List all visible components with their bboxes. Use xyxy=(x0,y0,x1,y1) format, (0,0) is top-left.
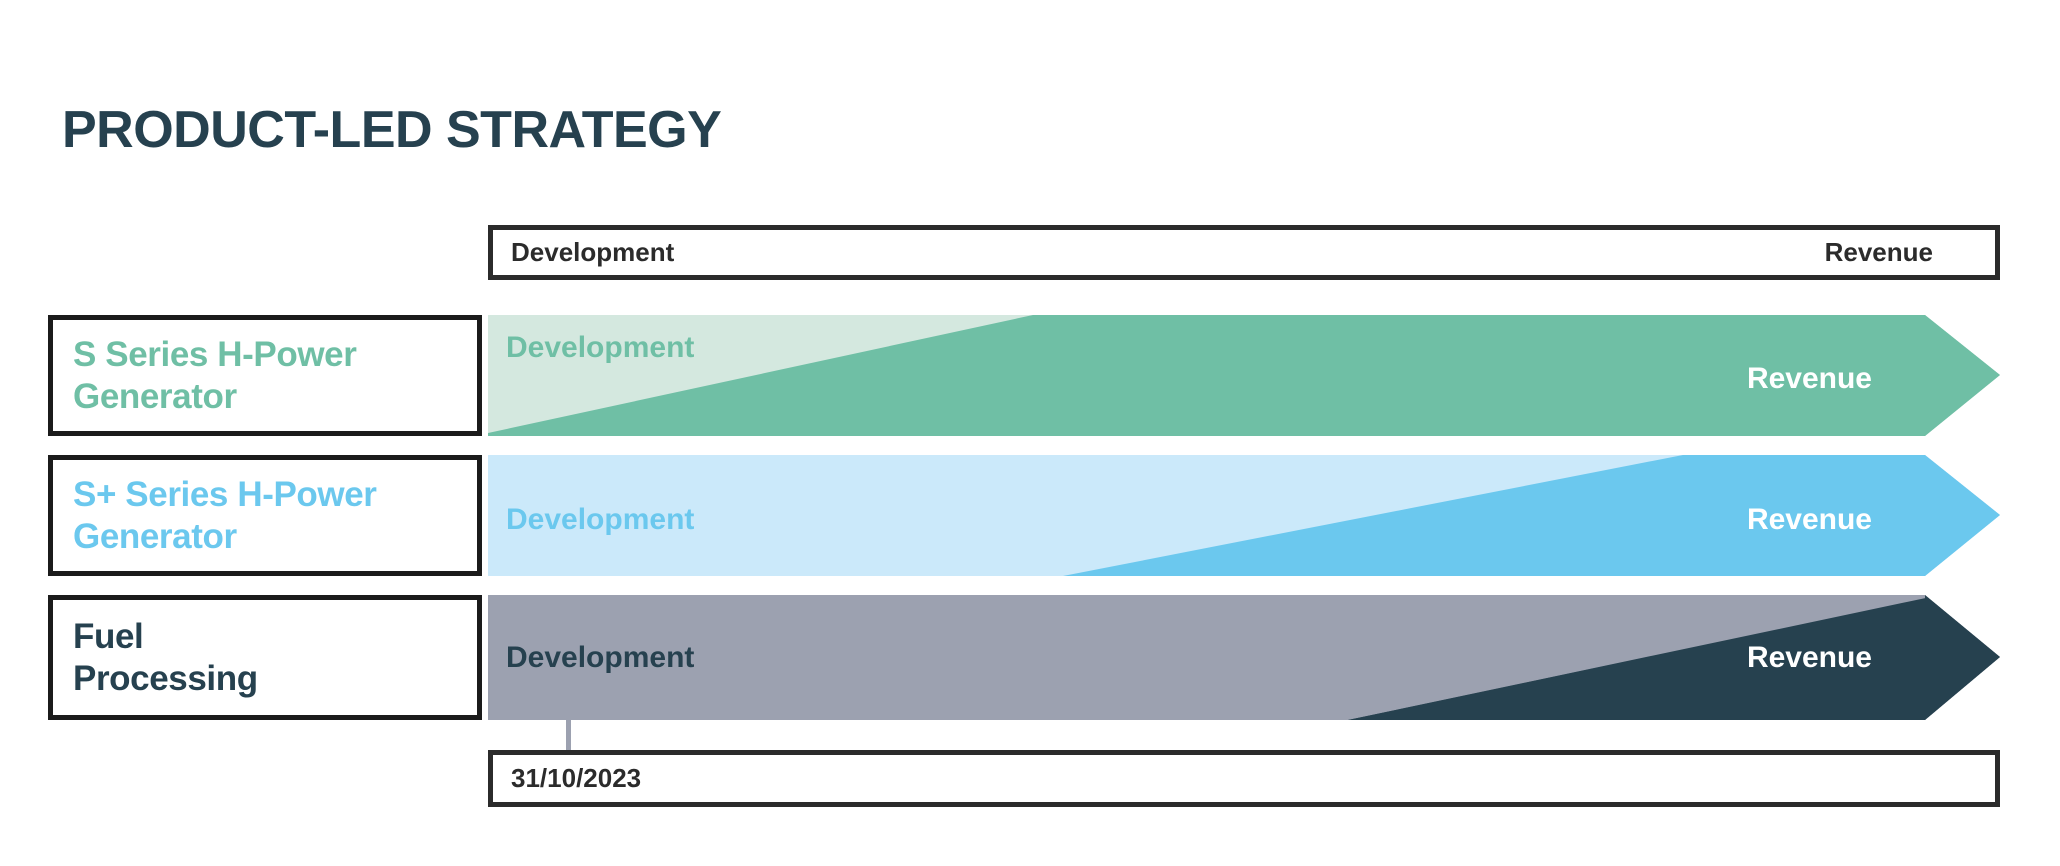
row-label-s-plus-series[interactable]: S+ Series H-Power Generator xyxy=(48,455,482,576)
timeline-tick-marker xyxy=(566,720,571,754)
track-row-s-series[interactable]: Development Revenue xyxy=(488,315,2000,436)
row-label-text-s-plus-series: S+ Series H-Power Generator xyxy=(73,474,376,557)
track-row-fuel-processing[interactable]: Development Revenue xyxy=(488,595,2000,720)
track-shape-s-plus-series xyxy=(488,455,2000,576)
track-row-s-plus-series[interactable]: Development Revenue xyxy=(488,455,2000,576)
row-label-text-fuel-processing: Fuel Processing xyxy=(73,616,258,699)
track-shape-s-series xyxy=(488,315,2000,436)
row-label-text-s-series: S Series H-Power Generator xyxy=(73,334,356,417)
phase-header-revenue-label: Revenue xyxy=(1825,237,1933,268)
row-label-fuel-processing[interactable]: Fuel Processing xyxy=(48,595,482,720)
track-shape-fuel-processing xyxy=(488,595,2000,720)
page-title: PRODUCT-LED STRATEGY xyxy=(62,100,721,160)
phase-header-bar: Development Revenue xyxy=(488,225,2000,280)
timeline-date-label: 31/10/2023 xyxy=(511,763,641,794)
row-label-s-series[interactable]: S Series H-Power Generator xyxy=(48,315,482,436)
timeline-footer-bar: 31/10/2023 xyxy=(488,750,2000,807)
phase-header-development-label: Development xyxy=(511,237,674,268)
